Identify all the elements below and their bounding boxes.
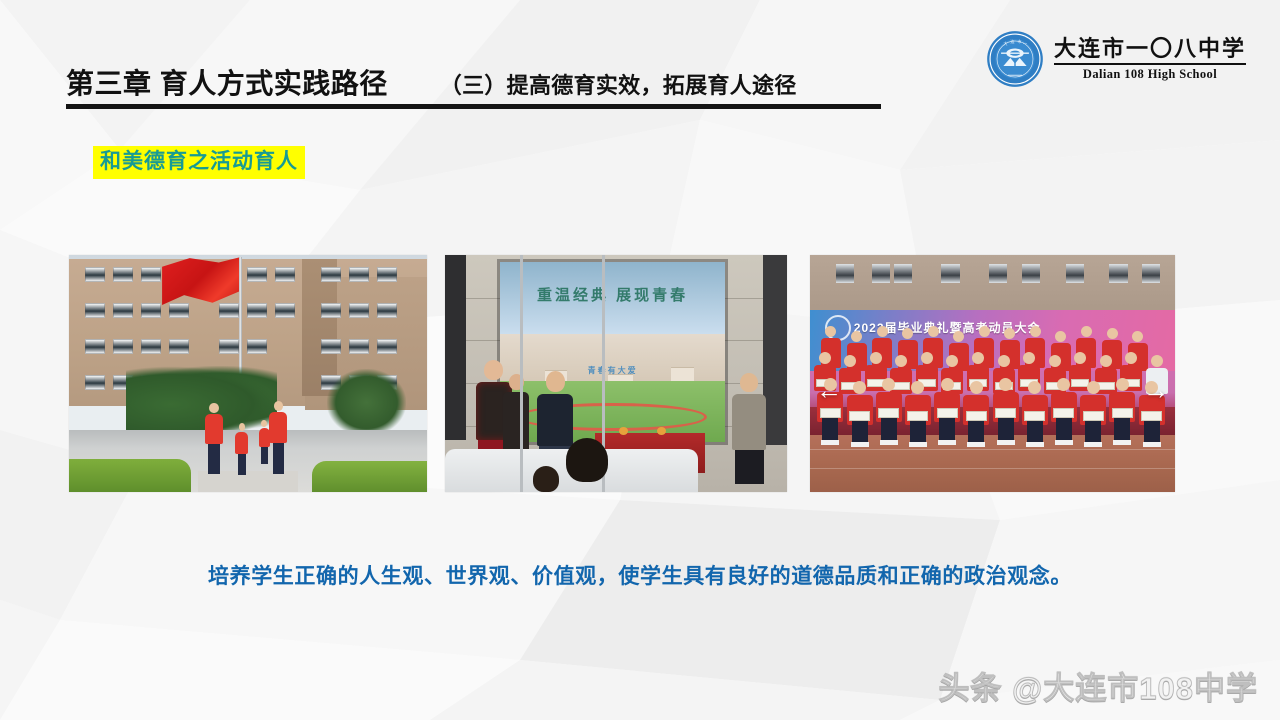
chapter-title: 第三章 育人方式实践路径 (66, 62, 388, 102)
school-name-en: Dalian 108 High School (1083, 67, 1217, 82)
svg-text:一: 一 (1023, 42, 1027, 47)
next-arrow-icon[interactable]: → (1143, 377, 1169, 403)
school-logo-block: 大连 市一 大连市一〇八中学 Dalian 108 High School (986, 30, 1246, 88)
photo-flag-ceremony (69, 255, 427, 492)
watermark: 头条 @大连市108中学 (938, 663, 1258, 708)
prev-arrow-icon[interactable]: ← (816, 377, 842, 403)
subtitle-highlight-wrap: 和美德育之活动育人 (93, 146, 305, 179)
photo-classic-youth-presentation: 重温经典 展现青春 青春有大爱 (445, 255, 787, 492)
photo-graduation-ceremony: 2022届毕业典礼暨高考动员大会 (810, 255, 1175, 492)
title-underline-rule (66, 104, 881, 109)
school-name-block: 大连市一〇八中学 Dalian 108 High School (1054, 36, 1246, 81)
svg-text:大: 大 (1003, 40, 1007, 46)
svg-text:连: 连 (1010, 38, 1014, 44)
section-title: （三）提高德育实效，拓展育人途径 (440, 68, 797, 100)
svg-text:市: 市 (1017, 38, 1021, 44)
screen-subline: 青春有大爱 (588, 365, 638, 376)
school-name-cn: 大连市一〇八中学 (1054, 36, 1246, 64)
slide-caption: 培养学生正确的人生观、世界观、价值观，使学生具有良好的道德品质和正确的政治观念。 (0, 560, 1280, 590)
slide-header: 第三章 育人方式实践路径 （三）提高德育实效，拓展育人途径 (66, 62, 797, 102)
school-seal-icon: 大连 市一 (986, 30, 1044, 88)
slide-canvas: 第三章 育人方式实践路径 （三）提高德育实效，拓展育人途径 大连 市一 大连市一… (0, 0, 1280, 720)
projector-screen: 重温经典 展现青春 青春有大爱 (500, 262, 726, 442)
screen-headline: 重温经典 展现青春 (500, 284, 726, 305)
subtitle-text: 和美德育之活动育人 (93, 146, 305, 179)
